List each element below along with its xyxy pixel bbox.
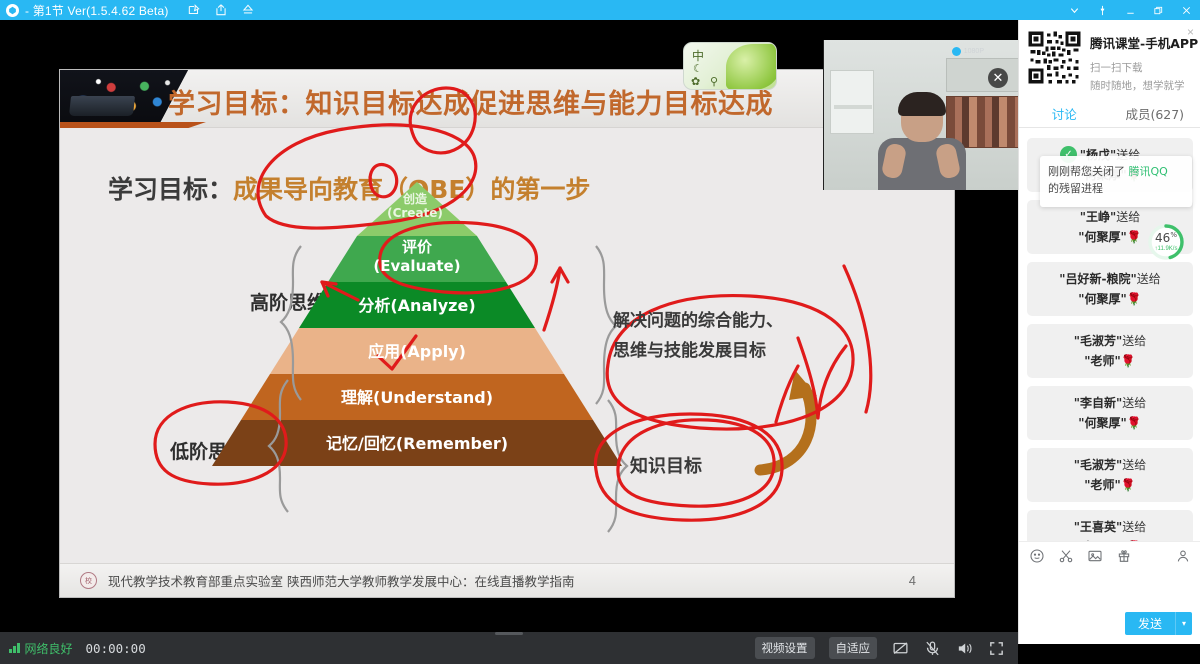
list-item: "毛淑芳"送给 "老师"🌹 [1027,448,1193,502]
rose-gift-icon: 🌹 [1127,416,1142,430]
rose-gift-icon: 🌹 [1121,354,1136,368]
screen-share-off-icon[interactable] [891,639,909,657]
annotation-upper: 解决问题的综合能力、 思维与技能发展目标 [613,306,783,366]
upload-icon[interactable] [241,3,255,17]
teacher-video-pip[interactable]: 1080P ✕ [823,40,1018,190]
fullscreen-icon[interactable] [987,639,1005,657]
pyramid-level-apply: 应用(Apply) [307,338,527,362]
slide-footer: 校 现代教学技术教育部重点实验室 陕西师范大学教师教学发展中心：在线直播教学指南… [60,563,954,597]
slide-header-accent-bar [60,122,206,128]
slide-page-number: 4 [909,573,916,588]
mic-muted-icon[interactable] [923,639,941,657]
scissors-icon[interactable] [1058,548,1074,564]
subline-prefix: 学习目标： [108,175,233,204]
label-lower-order-thinking: 低阶思维 [170,437,246,464]
pyramid-level-create: 创造(Create) [355,192,475,220]
toast-link[interactable]: 腾讯QQ [1129,165,1168,178]
chevron-down-icon[interactable] [1060,0,1088,20]
gear-icon[interactable]: ✿ [691,75,700,88]
promo-line-2: 随时随地，想学就学 [1090,78,1198,93]
gift-icon[interactable] [1116,548,1132,564]
promo-close-button[interactable]: × [1187,25,1194,39]
send-dropdown-button[interactable]: ▾ [1175,612,1192,635]
slide-subline: 学习目标：成果导向教育（OBE）的第一步 [108,170,590,206]
toast-text-after: 的残留进程 [1048,182,1103,195]
app-logo-icon [6,4,19,17]
list-item: "王喜英"送给 "何聚厚"🌹 [1027,510,1193,541]
share-icon[interactable] [214,3,228,17]
ime-leaf-decoration [726,44,777,90]
edit-icon[interactable] [187,3,201,17]
list-item: "李自新"送给 "何聚厚"🌹 [1027,386,1193,440]
minimize-icon[interactable] [1116,0,1144,20]
window-title: - 第1节 Ver(1.5.4.62 Beta) [25,2,169,19]
speaker-icon[interactable] [955,639,973,657]
tencent-ketang-live-window: - 第1节 Ver(1.5.4.62 Beta) [0,0,1200,644]
annotation-lower: 知识目标 [630,452,702,482]
mobile-app-promo: 腾讯课堂-手机APP 扫一扫下载 随时随地，想学就学 × [1019,20,1200,100]
bulb-icon[interactable]: ⚲ [710,75,718,88]
tab-members[interactable]: 成员(627) [1110,100,1200,127]
fit-mode-button[interactable]: 自适应 [829,637,878,659]
system-toast[interactable]: 刚刚帮您关闭了 腾讯QQ 的残留进程 [1040,156,1192,207]
window-titlebar: - 第1节 Ver(1.5.4.62 Beta) [0,0,1200,20]
video-appliance [830,70,874,134]
chat-sidebar: 腾讯课堂-手机APP 扫一扫下载 随时随地，想学就学 × 讨论 成员(627) … [1018,20,1200,644]
accelerator-widget[interactable]: 46% ↑11.9K/s [1146,222,1186,262]
elapsed-timer: 00:00:00 [86,641,146,656]
rose-gift-icon: 🌹 [1121,478,1136,492]
pyramid-level-understand: 理解(Understand) [287,384,547,408]
video-settings-button[interactable]: 视频设置 [755,637,815,659]
pyramid-level-evaluate: 评价(Evaluate) [337,238,497,276]
network-status: 网络良好 [9,640,73,657]
sidebar-tabs: 讨论 成员(627) [1019,100,1200,128]
tab-discussion[interactable]: 讨论 [1019,100,1110,127]
video-close-button[interactable]: ✕ [988,68,1008,88]
signal-bars-icon [9,643,20,653]
ime-language-bar[interactable]: 中 ☾ ✿ ⚲ [683,42,777,90]
image-icon[interactable] [1087,548,1103,564]
list-item: "毛淑芳"送给 "老师"🌹 [1027,324,1193,378]
send-button-group: 发送 ▾ [1125,612,1192,635]
promo-title: 腾讯课堂-手机APP [1090,36,1198,51]
list-item: "吕好新-粮院"送给 "何聚厚"🌹 [1027,262,1193,316]
moon-icon[interactable]: ☾ [693,62,703,75]
player-control-bar: 网络良好 00:00:00 视频设置 自适应 [0,632,1018,664]
close-icon[interactable] [1172,0,1200,20]
slide-footer-text: 现代教学技术教育部重点实验室 陕西师范大学教师教学发展中心：在线直播教学指南 [108,571,574,590]
label-higher-order-thinking: 高阶思维 [250,288,326,315]
accelerator-percent: 46% [1146,231,1186,245]
restore-icon[interactable] [1144,0,1172,20]
toast-text-before: 刚刚帮您关闭了 [1048,165,1125,178]
quality-dot-icon [952,47,961,56]
rose-gift-icon: 🌹 [1127,230,1142,244]
emoji-icon[interactable] [1029,548,1045,564]
pyramid-graphic [60,70,954,597]
send-button[interactable]: 发送 [1125,612,1175,635]
pyramid-level-analyze: 分析(Analyze) [317,292,517,316]
teacher-figure [876,96,968,190]
pyramid-level-remember: 记忆/回忆(Remember) [267,430,567,454]
at-user-icon[interactable] [1175,548,1191,564]
slide-title: 学习目标：知识目标达成促进思维与能力目标达成 [168,82,773,121]
slide-canvas[interactable]: 学习目标：知识目标达成促进思维与能力目标达成 学习目标：成果导向教育（OBE）的… [60,70,954,597]
promo-line-1: 扫一扫下载 [1090,60,1198,75]
pin-icon[interactable] [1088,0,1116,20]
presentation-stage: 学习目标：知识目标达成促进思维与能力目标达成 学习目标：成果导向教育（OBE）的… [0,20,1018,612]
university-seal-icon: 校 [80,572,97,589]
qr-code-icon[interactable] [1027,30,1082,85]
control-bar-handle[interactable] [495,632,523,635]
chat-toolbar [1019,541,1200,569]
rose-gift-icon: 🌹 [1127,292,1142,306]
video-quality-badge: 1080P [952,47,984,56]
accelerator-speed: ↑11.9K/s [1146,246,1186,252]
